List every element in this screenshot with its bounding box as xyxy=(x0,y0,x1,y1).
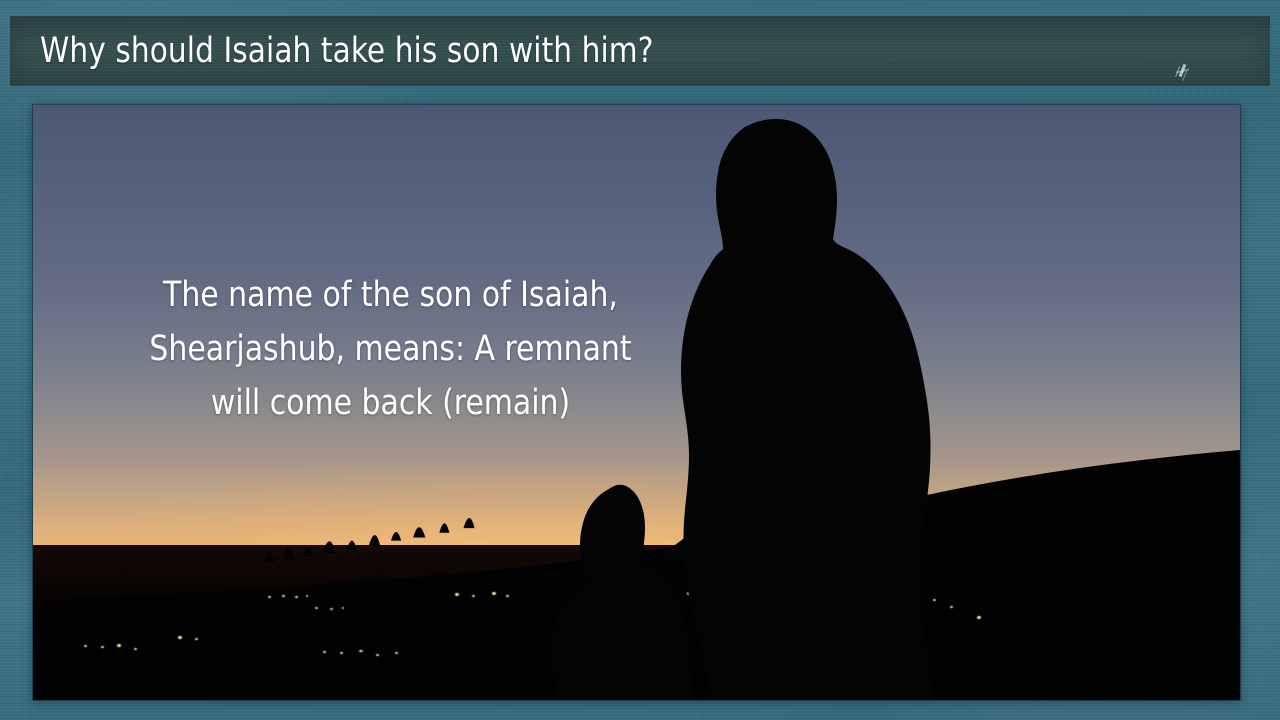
adult-silhouette xyxy=(681,119,933,700)
body-line-3: will come back (remain) xyxy=(122,376,659,430)
slide-photo: The name of the son of Isaiah, Shearjash… xyxy=(33,105,1240,700)
title-band: Why should Isaiah take his son with him? xyxy=(10,16,1270,86)
body-line-1: The name of the son of Isaiah, xyxy=(122,268,659,322)
presentation-slide: Why should Isaiah take his son with him? xyxy=(0,0,1280,720)
slide-body-text: The name of the son of Isaiah, Shearjash… xyxy=(108,268,673,430)
body-line-2: Shearjashub, means: A remnant xyxy=(122,322,659,376)
slide-title: Why should Isaiah take his son with him? xyxy=(40,31,654,71)
